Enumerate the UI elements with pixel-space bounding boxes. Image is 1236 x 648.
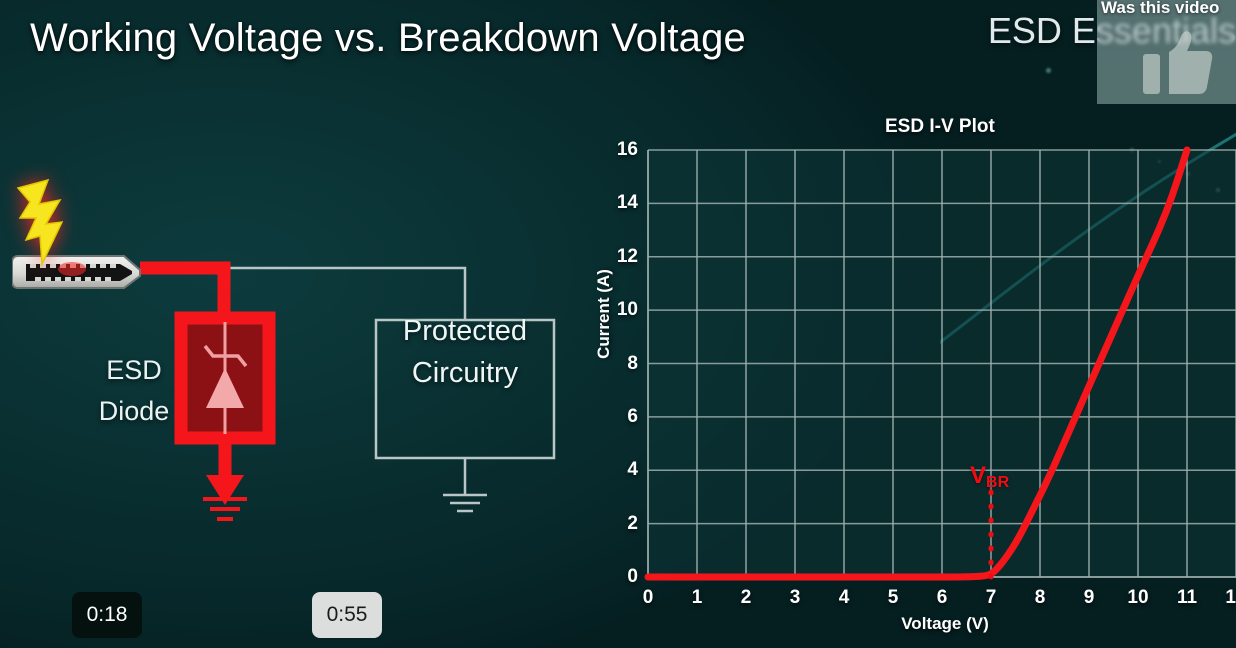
x-axis-tick: 5 [873, 587, 913, 609]
iv-plot: ESD I-V Plot Current (A) Voltage (V) 024… [575, 108, 1236, 648]
x-axis-tick: 7 [971, 587, 1011, 609]
thumbs-up-icon[interactable] [1143, 30, 1215, 96]
survey-prompt: Was this video [1101, 0, 1236, 18]
chart-title: ESD I-V Plot [885, 116, 995, 138]
x-axis-tick: 8 [1020, 587, 1060, 609]
youtube-survey-overlay[interactable]: Was this video [1097, 0, 1236, 104]
y-axis-tick: 6 [598, 406, 638, 428]
y-axis-tick: 0 [598, 566, 638, 588]
y-axis-tick: 4 [598, 459, 638, 481]
series-line [648, 150, 1187, 577]
y-axis-tick: 8 [598, 353, 638, 375]
esd-diode-label-line1: ESD [88, 350, 180, 391]
x-axis-tick: 1 [677, 587, 717, 609]
protected-circuitry-label-line2: Circuitry [376, 352, 554, 394]
y-axis-tick: 2 [598, 513, 638, 535]
x-axis-tick: 6 [922, 587, 962, 609]
plot-background [648, 150, 1236, 577]
y-axis-tick: 14 [598, 192, 638, 214]
surge-current-path [140, 268, 224, 318]
x-axis-tick: 3 [775, 587, 815, 609]
x-axis-tick: 11 [1167, 587, 1207, 609]
protected-circuitry-label: Protected Circuitry [376, 310, 554, 394]
esd-diode-label: ESD Diode [88, 350, 180, 431]
breakdown-voltage-annotation: VBR [970, 462, 1009, 492]
y-axis-tick: 12 [598, 246, 638, 268]
vbr-symbol: V [970, 462, 986, 489]
bokeh-dot [1046, 68, 1051, 73]
esd-protection-circuit-diagram: ESD Diode Protected Circuitry [0, 150, 600, 570]
timestamp-chip-start[interactable]: 0:18 [72, 592, 142, 638]
x-axis-tick: 4 [824, 587, 864, 609]
chart-plot-area [575, 108, 1236, 648]
slide-canvas: Working Voltage vs. Breakdown Voltage ES… [0, 0, 1236, 648]
vbr-subscript: BR [986, 474, 1009, 491]
x-axis-tick: 2 [726, 587, 766, 609]
y-axis-tick: 10 [598, 299, 638, 321]
protected-circuitry-label-line1: Protected [376, 310, 554, 352]
chart-x-axis-label: Voltage (V) [865, 614, 1025, 634]
x-axis-tick: 0 [628, 587, 668, 609]
timestamp-chip-end[interactable]: 0:55 [312, 592, 382, 638]
lightning-bolt-icon [8, 174, 78, 270]
ground-symbol-icon [443, 495, 487, 511]
x-axis-tick: 9 [1069, 587, 1109, 609]
x-axis-tick: 12 [1216, 587, 1236, 609]
y-axis-tick: 16 [598, 139, 638, 161]
esd-diode-label-line2: Diode [88, 391, 180, 432]
x-axis-tick: 10 [1118, 587, 1158, 609]
page-title: Working Voltage vs. Breakdown Voltage [30, 16, 746, 61]
